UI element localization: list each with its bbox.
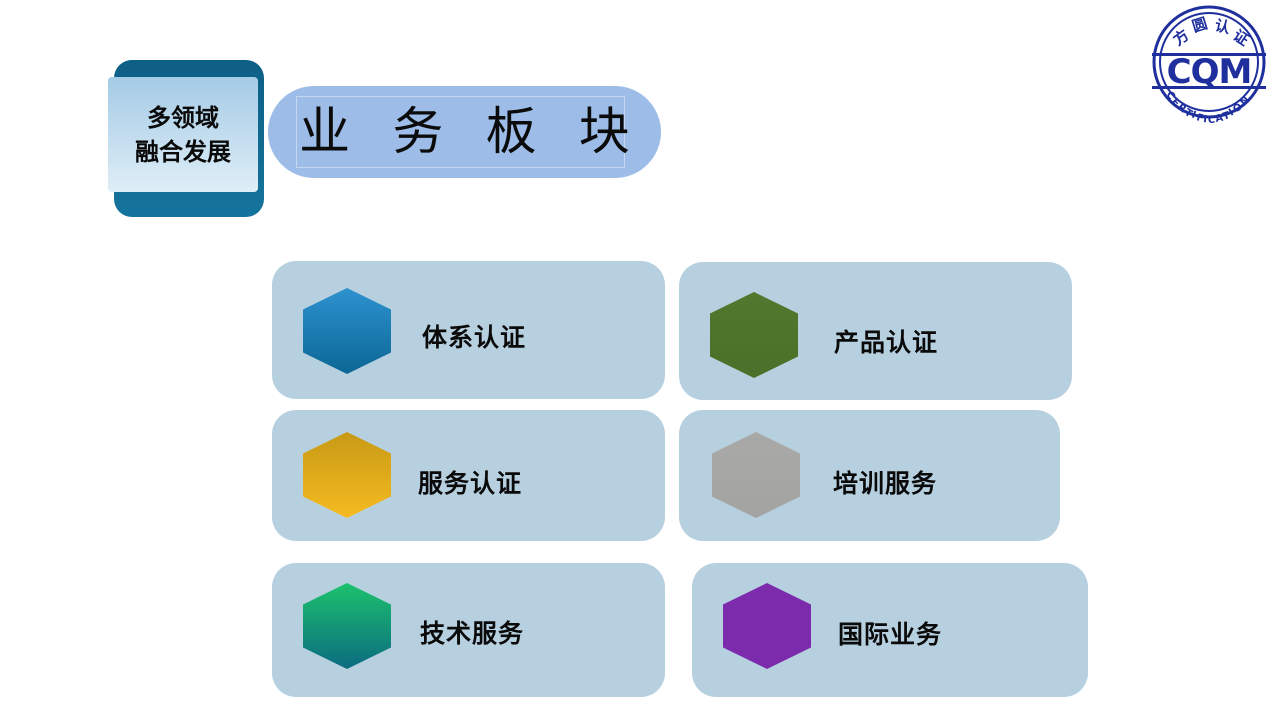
card-label-service-certification: 服务认证	[418, 464, 522, 500]
hexagon-icon	[303, 432, 391, 518]
hex-wrap-4	[303, 583, 391, 669]
hexagon-icon	[723, 583, 811, 669]
hex-wrap-3	[712, 432, 800, 518]
hex-wrap-0	[303, 288, 391, 374]
hexagon-icon	[710, 292, 798, 378]
hexagon-icon	[303, 583, 391, 669]
card-label-international-business: 国际业务	[838, 615, 942, 651]
hex-wrap-1	[710, 292, 798, 378]
card-label-system-certification: 体系认证	[422, 318, 526, 354]
hex-wrap-5	[723, 583, 811, 669]
hex-wrap-2	[303, 432, 391, 518]
card-label-product-certification: 产品认证	[834, 323, 938, 359]
slide-canvas: 业 务 板 块 多领域 融合发展 方 圆 认 证	[0, 0, 1280, 720]
card-label-technical-services: 技术服务	[420, 614, 524, 650]
card-label-training-services: 培训服务	[833, 464, 937, 500]
hexagon-icon	[303, 288, 391, 374]
hexagon-icon	[712, 432, 800, 518]
business-segments-grid: 体系认证 产品认证 服务认证 培训服务 技术服务 国际业务	[0, 0, 1280, 720]
